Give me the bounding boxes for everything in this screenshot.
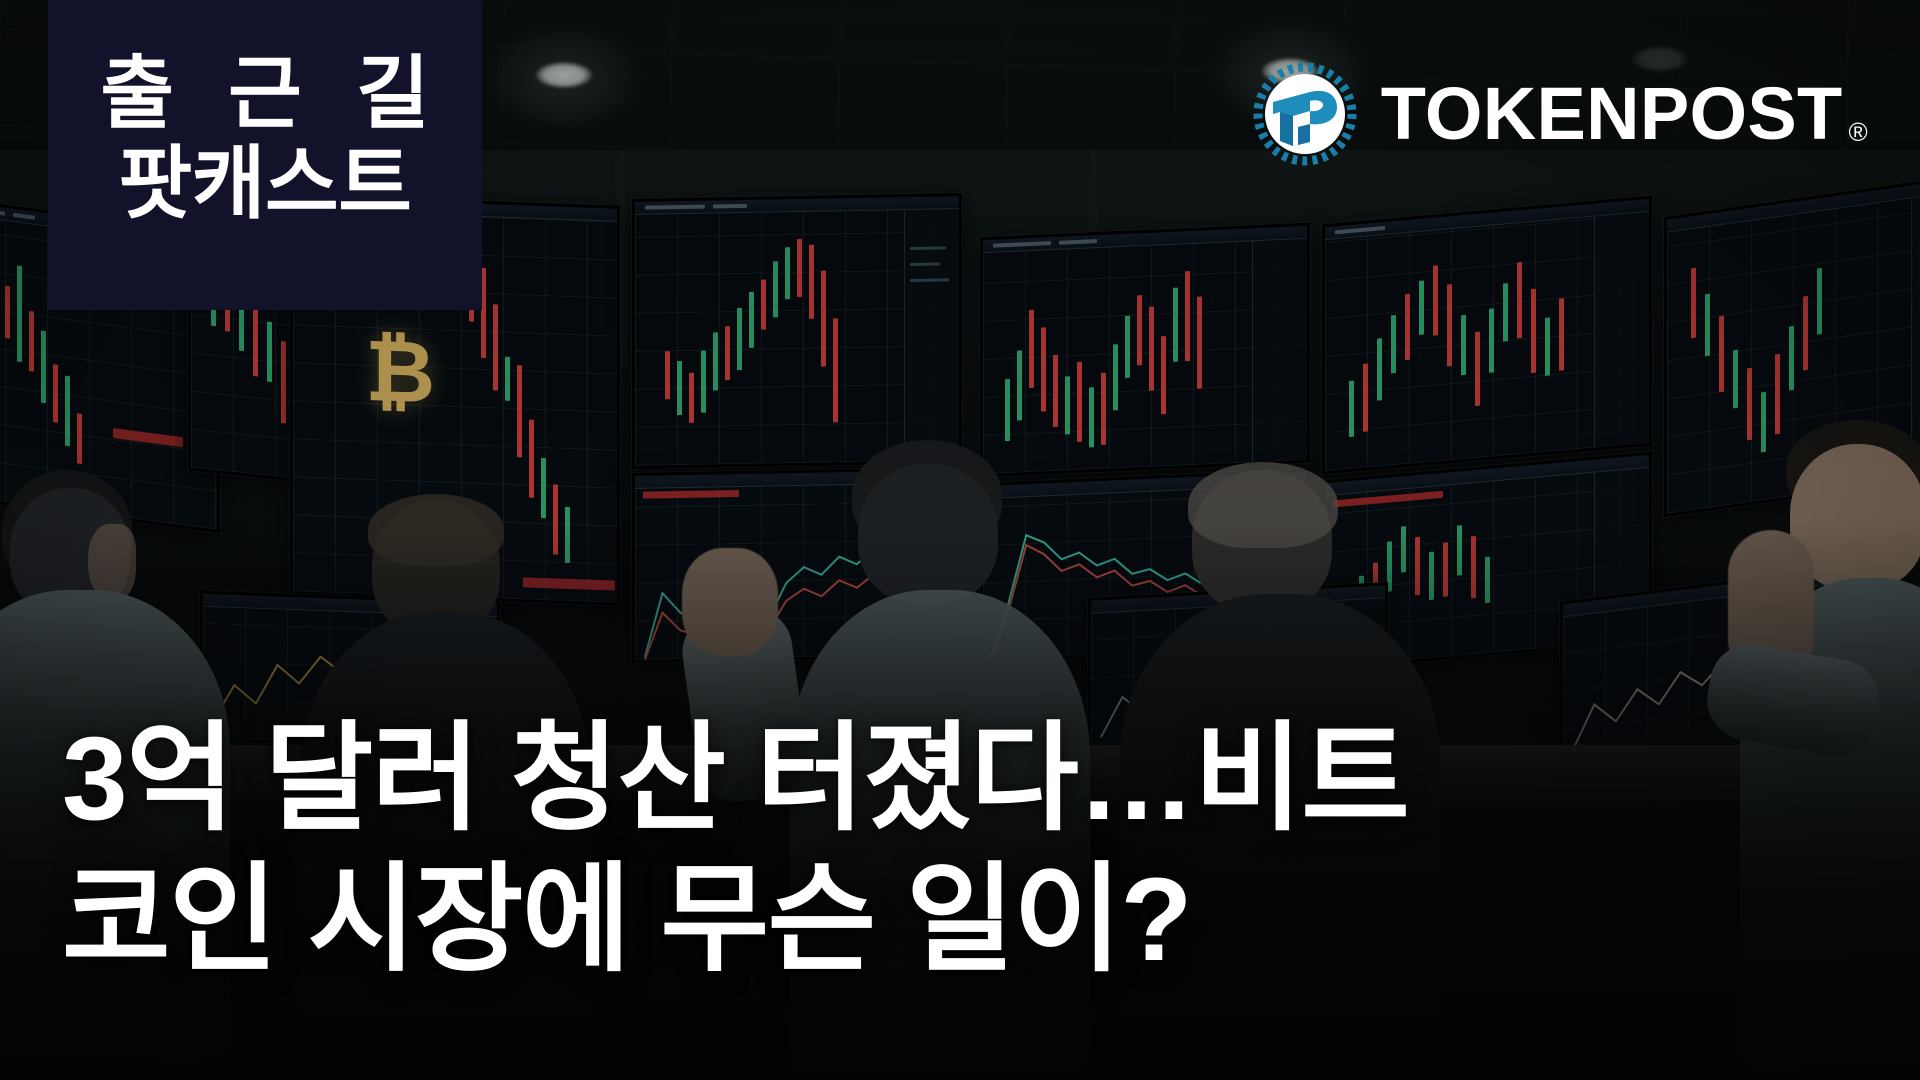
bitcoin-symbol: ₿ — [365, 328, 435, 416]
candle — [1017, 350, 1022, 420]
badge-line-1: 출 근 길 — [84, 52, 445, 137]
candle — [1559, 298, 1564, 370]
face — [88, 524, 136, 600]
candle — [797, 239, 802, 297]
candle — [1089, 387, 1094, 447]
candle — [761, 280, 766, 330]
monitor-screen — [632, 193, 962, 469]
headline-line-2: 코인 시장에 무슨 일이? — [62, 850, 1872, 992]
candle — [1041, 327, 1046, 411]
headline-line-1: 3억 달러 청산 터졌다…비트 — [62, 709, 1872, 851]
candle — [1447, 284, 1452, 366]
candle — [737, 308, 742, 370]
candle — [65, 376, 70, 447]
candle — [281, 341, 286, 424]
candle — [1485, 557, 1490, 603]
chart-side-panel — [1594, 212, 1649, 448]
candle — [253, 302, 258, 377]
candle — [1161, 336, 1166, 414]
candle — [809, 245, 814, 319]
candle — [1065, 376, 1070, 434]
chart-side-panel — [1252, 239, 1307, 462]
chart-surface — [635, 196, 959, 466]
candle — [689, 373, 694, 423]
candle — [1817, 268, 1822, 335]
candle — [1789, 326, 1794, 391]
candle — [1077, 362, 1082, 442]
candle — [1803, 296, 1808, 371]
candle — [29, 311, 34, 372]
candle — [1719, 316, 1724, 393]
candle — [267, 322, 272, 383]
candle — [1733, 350, 1738, 409]
candle — [665, 351, 670, 399]
thumbnail-canvas: ₿ — [0, 0, 1920, 1080]
toolbar-tick — [713, 204, 747, 209]
candle — [17, 265, 22, 362]
candle — [1149, 307, 1154, 391]
candle — [785, 247, 790, 299]
candle — [1489, 308, 1494, 372]
head — [858, 464, 998, 604]
candle — [1705, 294, 1710, 357]
candle — [1029, 310, 1034, 388]
candle — [493, 304, 498, 390]
candle — [1137, 295, 1142, 365]
panel-row — [910, 263, 939, 267]
candle — [1471, 536, 1476, 598]
hair — [368, 494, 504, 566]
candle — [701, 351, 706, 413]
candle — [5, 286, 10, 339]
candle — [1691, 268, 1696, 339]
candle — [725, 326, 730, 380]
candle — [517, 365, 522, 457]
candle — [1125, 316, 1130, 378]
chart-surface — [983, 226, 1307, 474]
candle — [1101, 373, 1106, 445]
candle — [1005, 379, 1010, 441]
candle — [1545, 317, 1550, 375]
ceiling-downlight — [536, 62, 592, 88]
candle — [1405, 294, 1410, 360]
wordmark-text: TOKENPOST — [1381, 77, 1843, 151]
candle — [1377, 338, 1382, 400]
candle — [1349, 381, 1354, 437]
panel-row — [910, 246, 946, 250]
candle — [677, 361, 682, 415]
podcast-badge: 출 근 길 팟캐스트 — [48, 0, 482, 310]
candle — [1391, 315, 1396, 373]
candle — [1475, 332, 1480, 406]
candle — [77, 413, 82, 464]
candle — [1197, 297, 1202, 389]
registered-trademark-icon: ® — [1849, 119, 1868, 151]
tokenpost-logo: TOKENPOST ® — [1253, 62, 1868, 166]
candle — [1517, 262, 1522, 338]
candle — [713, 332, 718, 390]
candle — [1185, 271, 1190, 361]
candle — [821, 270, 826, 366]
candle — [1503, 283, 1508, 341]
tokenpost-mark-icon — [1253, 62, 1357, 166]
candle — [1173, 288, 1178, 362]
candle — [1461, 315, 1466, 375]
candle — [1419, 281, 1424, 335]
candle — [773, 261, 778, 317]
badge-line-2: 팟캐스트 — [119, 137, 412, 231]
candle — [1531, 289, 1536, 373]
candle — [833, 318, 838, 422]
raised-hand — [682, 548, 778, 656]
candle — [1363, 363, 1368, 431]
candle — [1053, 355, 1058, 427]
candle — [505, 357, 510, 401]
candle — [1113, 344, 1118, 410]
candle — [749, 292, 754, 348]
candle — [529, 420, 534, 498]
candle — [53, 364, 58, 423]
hair — [1188, 462, 1338, 548]
headline: 3억 달러 청산 터졌다…비트 코인 시장에 무슨 일이? — [62, 709, 1872, 992]
tokenpost-wordmark: TOKENPOST ® — [1381, 77, 1868, 151]
candle — [41, 331, 46, 404]
candle — [1433, 265, 1438, 335]
